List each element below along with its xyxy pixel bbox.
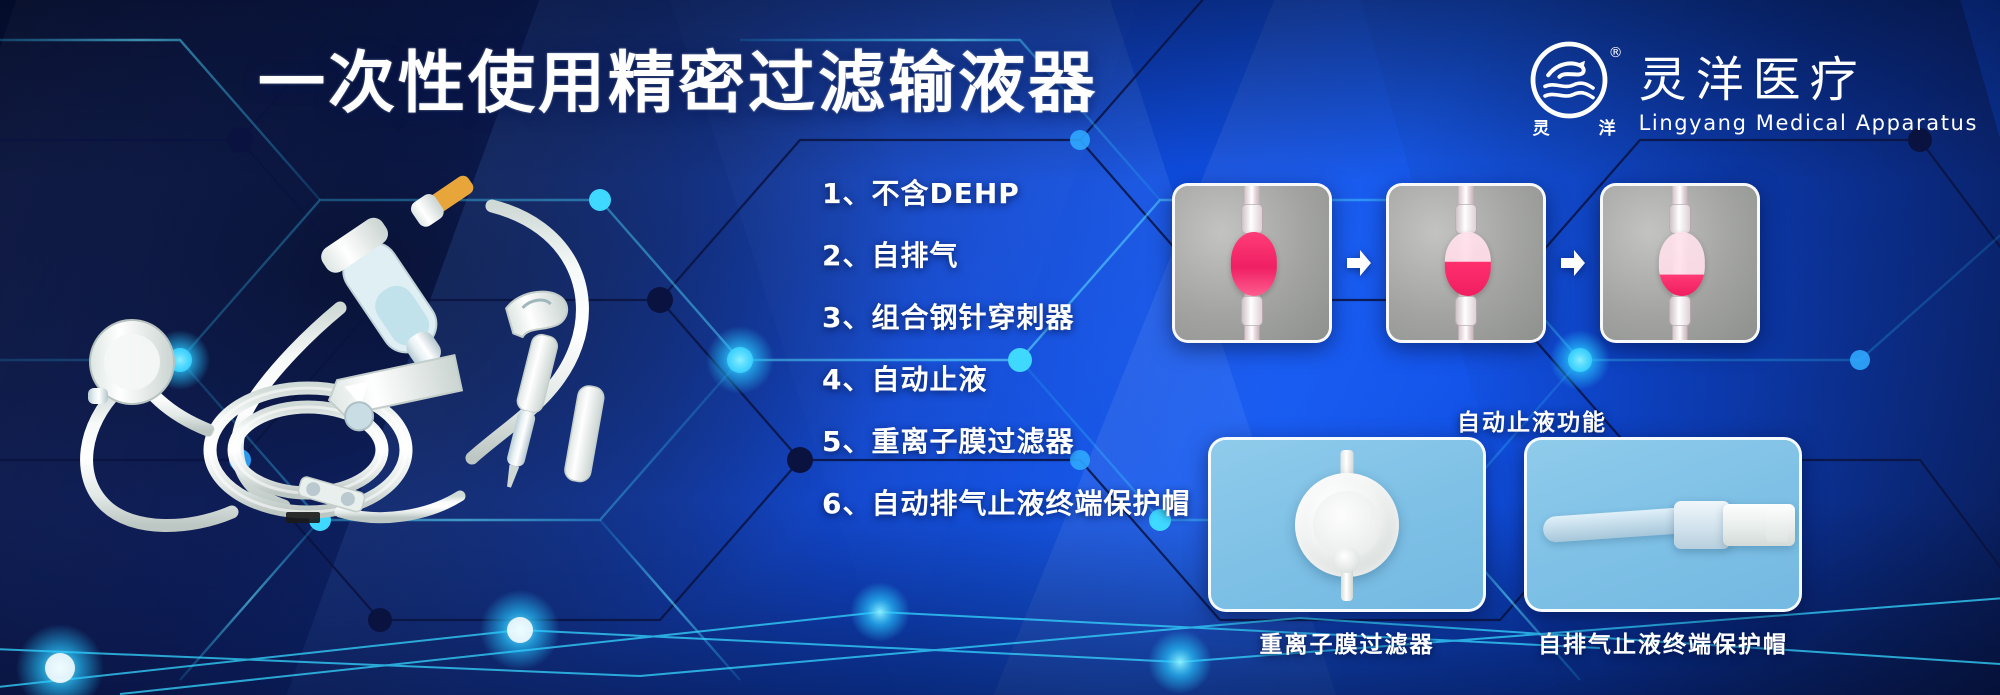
wing-clamp-part [504, 284, 572, 339]
tube-connector-bottom [1241, 296, 1263, 326]
label-tag [286, 512, 320, 523]
needle-assembly-part [496, 333, 559, 491]
logo-text-block: 灵洋医疗 Lingyang Medical Apparatus [1639, 55, 1978, 134]
caption-terminal-protective-cap: 自排气止液终端保护帽 [1524, 625, 1802, 659]
caption-auto-stop-function: 自动止液功能 [1222, 403, 1842, 437]
logo-emblem-caption: 灵 洋 [1529, 114, 1621, 139]
tube-connector-bottom [1669, 296, 1691, 326]
tube-connector-top [1669, 204, 1691, 234]
logo-emblem-char-left: 灵 [1533, 114, 1551, 139]
membrane-filter-part [88, 320, 174, 404]
banner-title: 一次性使用精密过滤输液器 [258, 46, 1098, 121]
photo-terminal-protective-cap[interactable] [1524, 437, 1802, 612]
tube-connector-top [1241, 204, 1263, 234]
feature-item-6: 6、自动排气止液终端保护帽 [822, 482, 1190, 522]
stop-valve-chamber-full [1231, 232, 1277, 296]
cap-luer-hub [1674, 501, 1730, 549]
brand-logo[interactable]: ® 灵 洋 灵洋医疗 Lingyang Medical Apparatus [1529, 40, 1978, 150]
feature-item-5: 5、重离子膜过滤器 [822, 420, 1190, 460]
registered-mark: ® [1609, 46, 1623, 60]
wave-circle-icon [1529, 40, 1609, 120]
filter-outlet-nub [1334, 547, 1360, 573]
feature-item-3: 3、组合钢针穿刺器 [822, 296, 1190, 336]
caption-ion-membrane-filter: 重离子膜过滤器 [1208, 625, 1486, 659]
stop-valve-chamber-low [1659, 232, 1705, 296]
bottom-photo-panels [1208, 437, 1802, 612]
feature-item-1: 1、不含DEHP [822, 172, 1190, 212]
logo-emblem-char-right: 洋 [1599, 114, 1617, 139]
arrow-right-icon-1 [1344, 246, 1374, 280]
logo-chinese-name: 灵洋医疗 [1639, 55, 1978, 105]
sequence-photo-1[interactable] [1172, 183, 1332, 343]
logo-emblem-icon: ® 灵 洋 [1529, 40, 1621, 150]
stop-valve-chamber-half [1445, 232, 1491, 296]
tube-connector-bottom [1455, 296, 1477, 326]
sequence-photo-2[interactable] [1386, 183, 1546, 343]
sequence-photo-3[interactable] [1600, 183, 1760, 343]
feature-list: 1、不含DEHP 2、自排气 3、组合钢针穿刺器 4、自动止液 5、重离子膜过滤… [822, 172, 1190, 522]
feature-item-4: 4、自动止液 [822, 358, 1190, 398]
arrow-right-icon-2 [1558, 246, 1588, 280]
auto-stop-sequence-panels [1172, 183, 1760, 343]
tube-connector-top [1455, 204, 1477, 234]
product-photo-infusion-set [40, 140, 640, 540]
feature-item-2: 2、自排气 [822, 234, 1190, 274]
spike-cap-part [408, 170, 478, 230]
photo-ion-membrane-filter[interactable] [1208, 437, 1486, 612]
needle-sheath-part [563, 384, 605, 483]
banner-root: 一次性使用精密过滤输液器 ® 灵 洋 灵洋医疗 Lingyang Medical… [0, 0, 2000, 695]
logo-english-name: Lingyang Medical Apparatus [1639, 111, 1978, 135]
cap-tip [1766, 508, 1788, 542]
